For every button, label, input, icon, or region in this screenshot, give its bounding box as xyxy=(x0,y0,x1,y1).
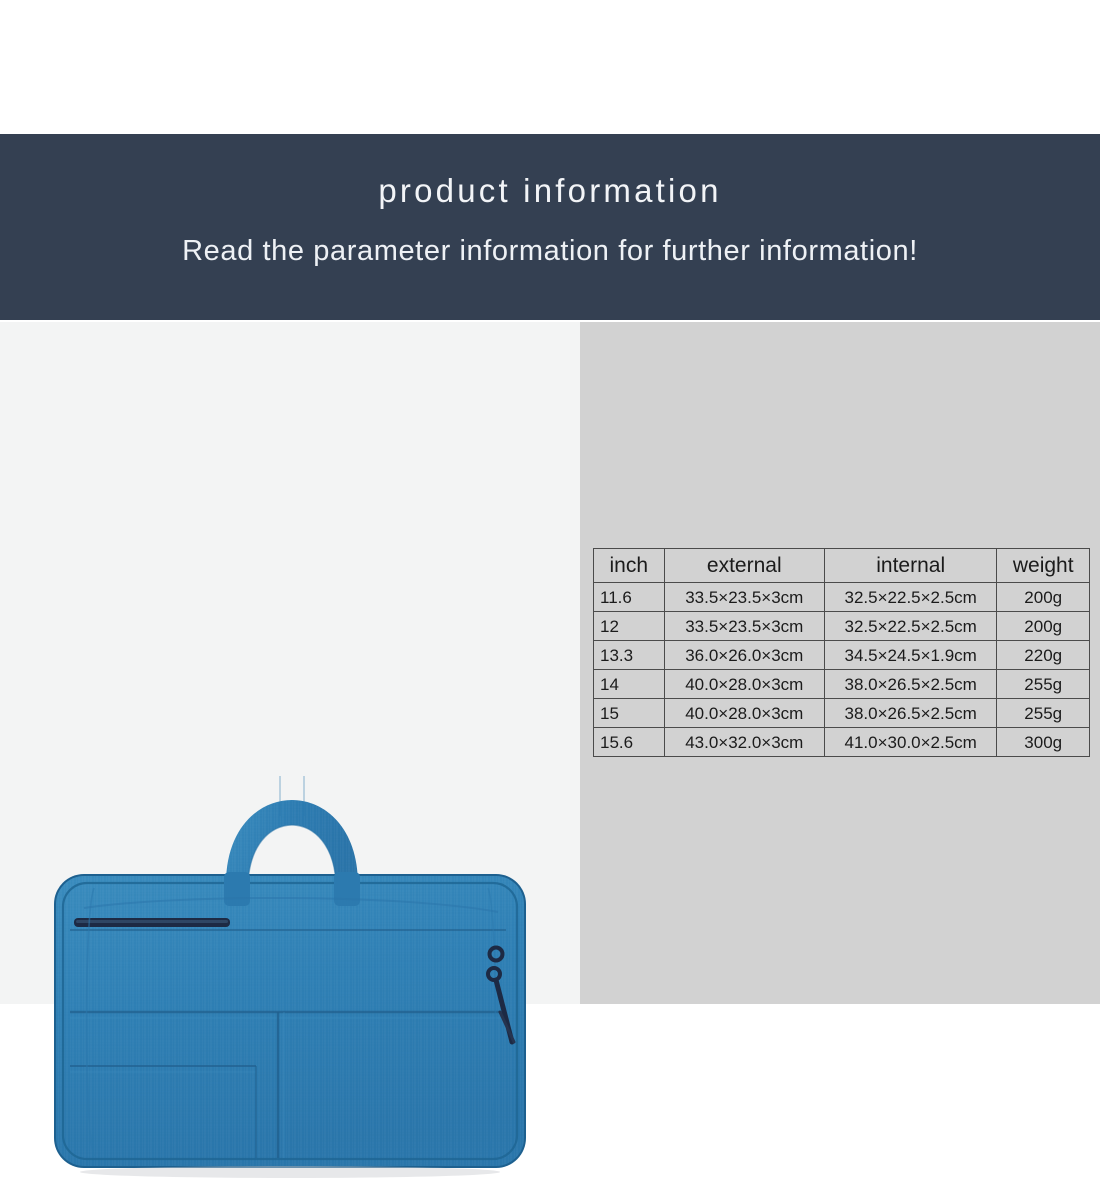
cell-internal: 34.5×24.5×1.9cm xyxy=(824,641,996,670)
table-row: 15.6 43.0×32.0×3cm 41.0×30.0×2.5cm 300g xyxy=(594,728,1090,757)
column-header-weight: weight xyxy=(997,549,1090,583)
cell-weight: 220g xyxy=(997,641,1090,670)
product-image-panel xyxy=(0,322,580,1004)
table-row: 15 40.0×28.0×3cm 38.0×26.5×2.5cm 255g xyxy=(594,699,1090,728)
banner-subtitle: Read the parameter information for furth… xyxy=(0,237,1100,266)
cell-inch: 13.3 xyxy=(594,641,665,670)
cell-internal: 41.0×30.0×2.5cm xyxy=(824,728,996,757)
cell-inch: 15.6 xyxy=(594,728,665,757)
cell-inch: 15 xyxy=(594,699,665,728)
column-header-internal: internal xyxy=(824,549,996,583)
cell-internal: 32.5×22.5×2.5cm xyxy=(824,612,996,641)
product-bag-illustration xyxy=(40,712,540,1182)
column-header-external: external xyxy=(664,549,824,583)
table-row: 12 33.5×23.5×3cm 32.5×22.5×2.5cm 200g xyxy=(594,612,1090,641)
table-header-row: inch external internal weight xyxy=(594,549,1090,583)
cell-external: 40.0×28.0×3cm xyxy=(664,670,824,699)
cell-external: 33.5×23.5×3cm xyxy=(664,612,824,641)
page-title: product information xyxy=(0,174,1100,207)
cell-weight: 200g xyxy=(997,612,1090,641)
product-information-banner: product information Read the parameter i… xyxy=(0,134,1100,320)
cell-external: 36.0×26.0×3cm xyxy=(664,641,824,670)
cell-external: 43.0×32.0×3cm xyxy=(664,728,824,757)
table-row: 11.6 33.5×23.5×3cm 32.5×22.5×2.5cm 200g xyxy=(594,583,1090,612)
cell-internal: 38.0×26.5×2.5cm xyxy=(824,670,996,699)
specification-table: inch external internal weight 11.6 33.5×… xyxy=(593,548,1090,757)
cell-internal: 32.5×22.5×2.5cm xyxy=(824,583,996,612)
cell-inch: 12 xyxy=(594,612,665,641)
cell-weight: 255g xyxy=(997,670,1090,699)
column-header-inch: inch xyxy=(594,549,665,583)
cell-weight: 200g xyxy=(997,583,1090,612)
cell-weight: 300g xyxy=(997,728,1090,757)
cell-inch: 14 xyxy=(594,670,665,699)
cell-weight: 255g xyxy=(997,699,1090,728)
cell-external: 40.0×28.0×3cm xyxy=(664,699,824,728)
table-row: 14 40.0×28.0×3cm 38.0×26.5×2.5cm 255g xyxy=(594,670,1090,699)
cell-inch: 11.6 xyxy=(594,583,665,612)
table-row: 13.3 36.0×26.0×3cm 34.5×24.5×1.9cm 220g xyxy=(594,641,1090,670)
cell-internal: 38.0×26.5×2.5cm xyxy=(824,699,996,728)
cell-external: 33.5×23.5×3cm xyxy=(664,583,824,612)
